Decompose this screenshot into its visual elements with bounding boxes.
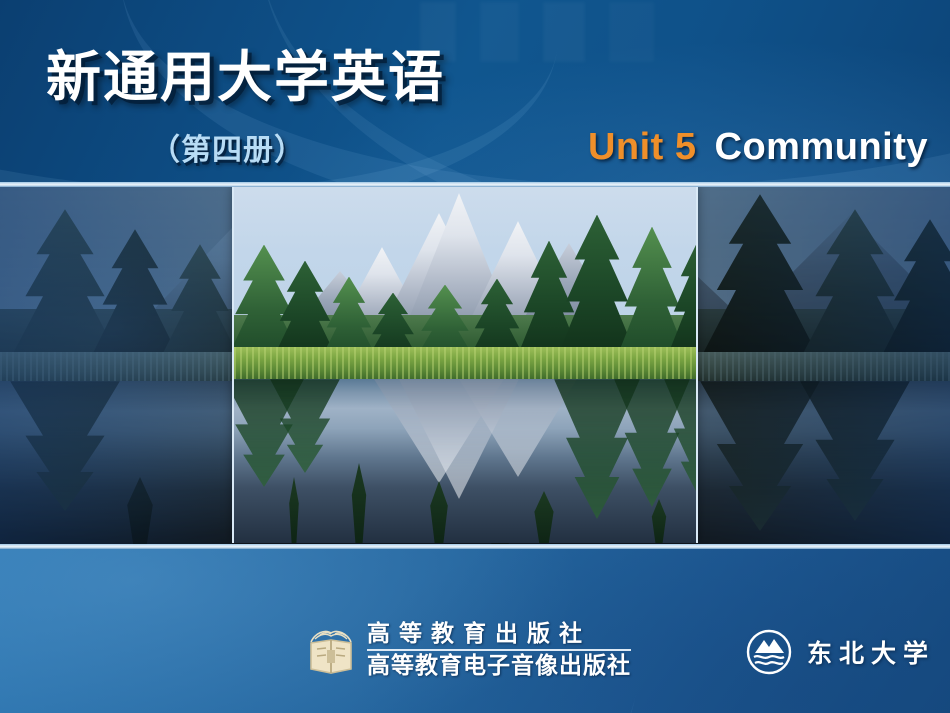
neu-mountain-wave-emblem-icon bbox=[745, 628, 793, 676]
backdrop-peak-4 bbox=[720, 215, 950, 345]
backdrop-tree-1 bbox=[10, 209, 120, 359]
backdrop-reflection-tree-2 bbox=[800, 381, 910, 521]
hero-image-band bbox=[0, 186, 950, 547]
university-logo: 东北大学 bbox=[745, 628, 935, 676]
backdrop-tree-3 bbox=[160, 244, 240, 359]
photo-meadow-texture bbox=[234, 347, 696, 379]
backdrop-tree-6 bbox=[880, 219, 950, 359]
hep-book-emblem-icon bbox=[305, 622, 357, 678]
backdrop-tree-5 bbox=[800, 209, 910, 359]
hero-photo bbox=[232, 186, 698, 543]
slide-header: 新通用大学英语 （第四册） Unit 5Community bbox=[0, 0, 950, 186]
backdrop-tree-2 bbox=[90, 229, 180, 359]
university-name: 东北大学 bbox=[807, 634, 935, 670]
backdrop-reflection-tree-1 bbox=[700, 381, 820, 531]
unit-number-label: Unit 5 bbox=[588, 126, 697, 168]
backdrop-reflection-tree-3 bbox=[10, 381, 120, 511]
backdrop-tree-4 bbox=[700, 194, 820, 359]
course-main-title: 新通用大学英语 bbox=[46, 50, 445, 105]
unit-topic-label: Community bbox=[715, 126, 929, 168]
unit-heading: Unit 5Community bbox=[588, 128, 928, 166]
divider-line-top bbox=[0, 182, 950, 187]
publisher-name-block: 高等教育出版社 高等教育电子音像出版社 bbox=[367, 623, 631, 678]
header-watermark-texture bbox=[420, 2, 720, 62]
presentation-slide: 新通用大学英语 （第四册） Unit 5Community bbox=[0, 0, 950, 713]
publisher-sub-name: 高等教育电子音像出版社 bbox=[367, 651, 631, 678]
course-volume-subtitle: （第四册） bbox=[150, 136, 305, 166]
divider-line-bottom bbox=[0, 544, 950, 549]
photo-scene-art bbox=[234, 186, 696, 543]
backdrop-reeds-1 bbox=[60, 477, 220, 547]
photo-meadow bbox=[234, 347, 696, 379]
publisher-name: 高等教育出版社 bbox=[367, 623, 631, 651]
publisher-logo: 高等教育出版社 高等教育电子音像出版社 bbox=[305, 622, 631, 678]
